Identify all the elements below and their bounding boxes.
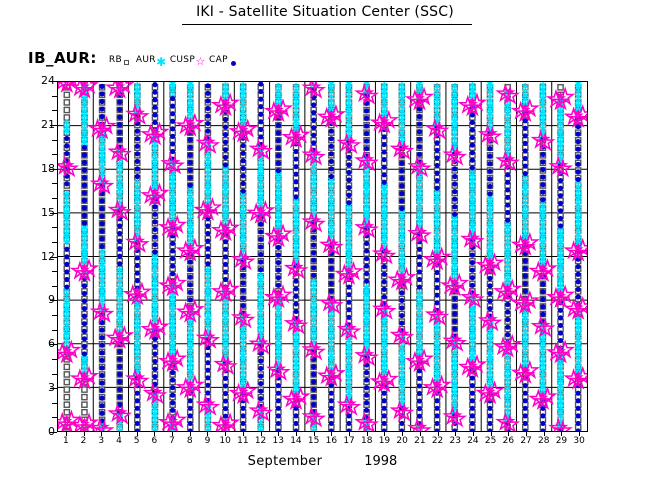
cap-dot-marker bbox=[152, 219, 157, 224]
x-tick-mark bbox=[243, 432, 244, 436]
cap-dot-marker bbox=[293, 164, 298, 169]
cap-dot-marker bbox=[417, 406, 422, 411]
x-tick-mark bbox=[473, 432, 474, 436]
cap-dot-marker bbox=[135, 255, 140, 260]
cap-dot-marker bbox=[364, 256, 369, 261]
cap-dot-marker bbox=[258, 97, 263, 102]
cap-dot-marker bbox=[346, 185, 351, 190]
cap-dot-marker bbox=[364, 241, 369, 246]
cap-dot-marker bbox=[470, 275, 475, 280]
cap-dot-marker bbox=[205, 375, 210, 380]
cap-dot-marker bbox=[364, 146, 369, 151]
cap-dot-marker bbox=[135, 174, 140, 179]
cap-dot-marker bbox=[576, 131, 581, 136]
cap-dot-marker bbox=[576, 264, 581, 269]
cap-dot-marker bbox=[258, 244, 263, 249]
cap-dot-marker bbox=[170, 126, 175, 131]
cap-dot-marker bbox=[82, 298, 87, 303]
cap-dot-marker bbox=[523, 258, 528, 263]
cap-dot-marker bbox=[329, 159, 334, 164]
cap-dot-marker bbox=[417, 114, 422, 119]
cap-dot-marker bbox=[188, 297, 193, 302]
x-tick-mark bbox=[101, 432, 102, 436]
cap-dot-marker bbox=[435, 277, 440, 282]
cap-dot-marker bbox=[188, 183, 193, 188]
cap-dot-marker bbox=[399, 305, 404, 310]
cap-dot-marker bbox=[487, 146, 492, 151]
cap-dot-marker bbox=[399, 421, 404, 426]
y-tick-mark bbox=[50, 81, 57, 82]
cap-dot-marker bbox=[223, 140, 228, 145]
cap-dot-marker bbox=[99, 91, 104, 96]
cap-dot-marker bbox=[540, 289, 545, 294]
cap-dot-marker bbox=[293, 156, 298, 161]
cap-dot-marker bbox=[382, 134, 387, 139]
cap-dot-marker bbox=[188, 175, 193, 180]
cap-dot-marker bbox=[523, 273, 528, 278]
cap-dot-marker bbox=[576, 177, 581, 182]
cap-dot-marker bbox=[417, 129, 422, 134]
cap-dot-marker bbox=[470, 391, 475, 396]
cap-dot-marker bbox=[452, 174, 457, 179]
cap-dot-marker bbox=[435, 300, 440, 305]
cap-dot-marker bbox=[258, 229, 263, 234]
cap-dot-marker bbox=[523, 383, 528, 388]
cap-dot-marker bbox=[435, 170, 440, 175]
cap-dot-marker bbox=[82, 175, 87, 180]
cap-dot-marker bbox=[417, 122, 422, 127]
cap-dot-marker bbox=[99, 206, 104, 211]
cap-dot-marker bbox=[364, 393, 369, 398]
cap-dot-marker bbox=[382, 142, 387, 147]
cap-dot-marker bbox=[223, 376, 228, 381]
x-tick-mark bbox=[491, 432, 492, 436]
cap-dot-marker bbox=[417, 247, 422, 252]
cap-dot-marker bbox=[576, 169, 581, 174]
cap-dot-marker bbox=[205, 353, 210, 358]
cap-dot-marker bbox=[311, 273, 316, 278]
cap-dot-marker bbox=[205, 383, 210, 388]
cap-dot-marker bbox=[188, 259, 193, 264]
cap-dot-marker bbox=[382, 157, 387, 162]
cap-dot-marker bbox=[487, 176, 492, 181]
cap-dot-marker bbox=[152, 204, 157, 209]
cap-dot-marker bbox=[435, 270, 440, 275]
cap-dot-marker bbox=[223, 383, 228, 388]
cap-dot-marker bbox=[82, 168, 87, 173]
cap-dot-marker bbox=[135, 129, 140, 134]
rb-square-marker bbox=[64, 372, 69, 377]
cap-dot-marker bbox=[99, 343, 104, 348]
cap-dot-marker bbox=[487, 406, 492, 411]
cap-dot-marker bbox=[558, 201, 563, 206]
x-tick-mark bbox=[261, 432, 262, 436]
cap-dot-marker bbox=[152, 112, 157, 117]
cap-dot-marker bbox=[117, 349, 122, 354]
cap-dot-marker bbox=[364, 370, 369, 375]
y-tick-mark bbox=[50, 213, 57, 214]
legend-label-cusp: CUSP bbox=[170, 55, 195, 65]
cap-dot-marker bbox=[258, 127, 263, 132]
cap-dot-marker bbox=[241, 406, 246, 411]
x-tick-mark bbox=[66, 432, 67, 436]
cap-dot-marker bbox=[223, 239, 228, 244]
cap-dot-marker bbox=[452, 204, 457, 209]
cap-dot-marker bbox=[152, 234, 157, 239]
cap-dot-marker bbox=[540, 182, 545, 187]
cap-dot-marker bbox=[346, 200, 351, 205]
cap-dot-marker bbox=[99, 106, 104, 111]
y-tick-mark bbox=[50, 300, 57, 301]
cap-dot-marker bbox=[311, 140, 316, 145]
x-tick-mark bbox=[190, 432, 191, 436]
cap-dot-marker bbox=[170, 96, 175, 101]
cap-dot-marker bbox=[382, 172, 387, 177]
cap-dot-marker bbox=[276, 130, 281, 135]
cap-dot-marker bbox=[399, 298, 404, 303]
cap-dot-marker bbox=[470, 260, 475, 265]
cap-dot-marker bbox=[293, 286, 298, 291]
cap-dot-marker bbox=[276, 398, 281, 403]
cap-dot-marker bbox=[505, 202, 510, 207]
cap-dot-marker bbox=[311, 387, 316, 392]
x-axis-label: September1998 bbox=[57, 454, 588, 469]
cap-dot-marker bbox=[82, 344, 87, 349]
cap-dot-marker bbox=[523, 421, 528, 426]
cap-dot-marker bbox=[540, 304, 545, 309]
cap-dot-marker bbox=[82, 198, 87, 203]
filled-circle-icon bbox=[228, 55, 239, 66]
cap-dot-marker bbox=[223, 162, 228, 167]
cap-dot-marker bbox=[540, 197, 545, 202]
cap-dot-marker bbox=[82, 283, 87, 288]
cap-dot-marker bbox=[329, 174, 334, 179]
cap-dot-marker bbox=[188, 145, 193, 150]
cap-dot-marker bbox=[364, 123, 369, 128]
cap-dot-marker bbox=[452, 197, 457, 202]
cap-dot-marker bbox=[523, 406, 528, 411]
cap-dot-marker bbox=[329, 406, 334, 411]
cap-dot-marker bbox=[223, 247, 228, 252]
cap-dot-marker bbox=[241, 158, 246, 163]
cap-dot-marker bbox=[329, 266, 334, 271]
cap-dot-marker bbox=[99, 236, 104, 241]
cap-dot-marker bbox=[311, 402, 316, 407]
cap-dot-marker bbox=[293, 421, 298, 426]
cap-dot-marker bbox=[329, 289, 334, 294]
cap-dot-marker bbox=[276, 406, 281, 411]
cap-dot-marker bbox=[117, 379, 122, 384]
cap-dot-marker bbox=[523, 163, 528, 168]
cap-dot-marker bbox=[452, 189, 457, 194]
x-tick-mark bbox=[278, 432, 279, 436]
cap-dot-marker bbox=[223, 124, 228, 129]
cap-dot-marker bbox=[64, 136, 69, 141]
cap-dot-marker bbox=[188, 406, 193, 411]
cap-dot-marker bbox=[364, 408, 369, 413]
cap-dot-marker bbox=[117, 372, 122, 377]
cap-dot-marker bbox=[276, 252, 281, 257]
cap-dot-marker bbox=[487, 184, 492, 189]
cap-dot-marker bbox=[470, 158, 475, 163]
cap-dot-marker bbox=[205, 106, 210, 111]
cap-dot-marker bbox=[364, 400, 369, 405]
cap-dot-marker bbox=[505, 172, 510, 177]
cap-dot-marker bbox=[117, 387, 122, 392]
cap-dot-marker bbox=[276, 383, 281, 388]
cap-dot-marker bbox=[311, 265, 316, 270]
cap-dot-marker bbox=[64, 284, 69, 289]
cap-dot-marker bbox=[452, 326, 457, 331]
cap-dot-marker bbox=[205, 261, 210, 266]
x-tick-mark bbox=[455, 432, 456, 436]
cap-dot-marker bbox=[505, 302, 510, 307]
cap-dot-marker bbox=[470, 165, 475, 170]
cap-dot-marker bbox=[152, 366, 157, 371]
cap-dot-marker bbox=[346, 155, 351, 160]
cap-dot-marker bbox=[576, 413, 581, 418]
cap-dot-marker bbox=[293, 309, 298, 314]
cap-dot-marker bbox=[170, 408, 175, 413]
cap-dot-marker bbox=[188, 168, 193, 173]
cap-dot-marker bbox=[576, 294, 581, 299]
cap-dot-marker bbox=[152, 250, 157, 255]
rb-square-marker bbox=[64, 379, 69, 384]
cap-dot-marker bbox=[117, 231, 122, 236]
cap-dot-marker bbox=[435, 421, 440, 426]
x-tick-mark bbox=[526, 432, 527, 436]
x-tick-mark bbox=[84, 432, 85, 436]
cap-dot-marker bbox=[382, 406, 387, 411]
x-tick-mark bbox=[119, 432, 120, 436]
cap-dot-marker bbox=[505, 210, 510, 215]
cap-dot-marker bbox=[82, 314, 87, 319]
rb-square-marker bbox=[64, 395, 69, 400]
cap-dot-marker bbox=[188, 413, 193, 418]
cap-dot-marker bbox=[135, 406, 140, 411]
hollow-square-icon bbox=[122, 55, 133, 66]
cap-dot-marker bbox=[258, 237, 263, 242]
x-tick-mark bbox=[207, 432, 208, 436]
cap-dot-marker bbox=[346, 421, 351, 426]
cap-dot-marker bbox=[170, 134, 175, 139]
cap-dot-marker bbox=[470, 413, 475, 418]
cap-dot-marker bbox=[258, 267, 263, 272]
cap-dot-marker bbox=[364, 378, 369, 383]
cap-dot-marker bbox=[382, 391, 387, 396]
cap-dot-marker bbox=[64, 262, 69, 267]
cap-dot-marker bbox=[64, 269, 69, 274]
cap-dot-marker bbox=[135, 263, 140, 268]
cap-dot-marker bbox=[276, 275, 281, 280]
cap-dot-marker bbox=[152, 351, 157, 356]
cap-dot-marker bbox=[558, 193, 563, 198]
cap-dot-marker bbox=[135, 398, 140, 403]
cap-dot-marker bbox=[152, 359, 157, 364]
cap-dot-marker bbox=[558, 208, 563, 213]
cap-dot-marker bbox=[417, 368, 422, 373]
cap-dot-marker bbox=[258, 112, 263, 117]
cap-dot-marker bbox=[135, 421, 140, 426]
cap-dot-marker bbox=[470, 252, 475, 257]
cap-dot-marker bbox=[241, 296, 246, 301]
y-tick-mark bbox=[50, 388, 57, 389]
cap-dot-marker bbox=[487, 161, 492, 166]
cap-dot-marker bbox=[152, 374, 157, 379]
cap-dot-marker bbox=[170, 111, 175, 116]
cap-dot-marker bbox=[346, 162, 351, 167]
cap-dot-marker bbox=[346, 300, 351, 305]
cap-dot-marker bbox=[311, 118, 316, 123]
cap-dot-marker bbox=[487, 169, 492, 174]
cap-dot-marker bbox=[346, 292, 351, 297]
cap-dot-marker bbox=[170, 271, 175, 276]
cap-dot-marker bbox=[205, 83, 210, 88]
cap-dot-marker bbox=[311, 102, 316, 107]
cap-dot-marker bbox=[258, 389, 263, 394]
cap-dot-marker bbox=[399, 321, 404, 326]
cap-dot-marker bbox=[223, 155, 228, 160]
cap-dot-marker bbox=[382, 279, 387, 284]
cap-dot-marker bbox=[135, 270, 140, 275]
cap-dot-marker bbox=[523, 141, 528, 146]
cap-dot-marker bbox=[576, 421, 581, 426]
cap-dot-marker bbox=[487, 298, 492, 303]
cap-dot-marker bbox=[82, 336, 87, 341]
cap-dot-marker bbox=[293, 179, 298, 184]
cap-dot-marker bbox=[470, 143, 475, 148]
asterisk-icon: ✱ bbox=[156, 55, 167, 66]
cap-dot-marker bbox=[364, 138, 369, 143]
cap-dot-marker bbox=[487, 291, 492, 296]
cap-dot-marker bbox=[576, 147, 581, 152]
cap-dot-marker bbox=[82, 213, 87, 218]
cap-dot-marker bbox=[329, 383, 334, 388]
cap-dot-marker bbox=[64, 254, 69, 259]
cap-dot-marker bbox=[99, 396, 104, 401]
cap-dot-marker bbox=[452, 311, 457, 316]
cap-dot-marker bbox=[311, 372, 316, 377]
cap-dot-marker bbox=[117, 239, 122, 244]
cap-dot-marker bbox=[523, 148, 528, 153]
legend: IB_AUR: RB AUR ✱ CUSP ☆ CAP bbox=[28, 48, 242, 66]
cap-dot-marker bbox=[241, 181, 246, 186]
cap-dot-marker bbox=[117, 122, 122, 127]
x-tick-mark bbox=[367, 432, 368, 436]
x-tick-label: 30 bbox=[569, 436, 589, 446]
page-title: IKI - Satellite Situation Center (SSC) bbox=[0, 4, 650, 20]
cap-dot-marker bbox=[258, 358, 263, 363]
cap-dot-marker bbox=[540, 282, 545, 287]
cap-dot-marker bbox=[435, 413, 440, 418]
cap-dot-marker bbox=[470, 120, 475, 125]
cap-dot-marker bbox=[135, 391, 140, 396]
cap-dot-marker bbox=[540, 297, 545, 302]
cap-dot-marker bbox=[417, 398, 422, 403]
cap-dot-marker bbox=[293, 279, 298, 284]
cap-dot-marker bbox=[435, 140, 440, 145]
cap-dot-marker bbox=[364, 385, 369, 390]
cap-dot-marker bbox=[241, 288, 246, 293]
cap-dot-marker bbox=[329, 398, 334, 403]
cap-dot-marker bbox=[505, 180, 510, 185]
rb-square-marker bbox=[82, 402, 87, 407]
cap-dot-marker bbox=[523, 391, 528, 396]
cap-dot-marker bbox=[399, 206, 404, 211]
cap-dot-marker bbox=[135, 166, 140, 171]
legend-item-rb: RB bbox=[109, 55, 133, 66]
cap-dot-marker bbox=[311, 394, 316, 399]
legend-item-cusp: CUSP ☆ bbox=[170, 55, 206, 66]
cap-dot-marker bbox=[523, 126, 528, 131]
cap-dot-marker bbox=[576, 139, 581, 144]
cap-dot-marker bbox=[276, 260, 281, 265]
x-tick-mark bbox=[349, 432, 350, 436]
x-tick-mark bbox=[137, 432, 138, 436]
cap-dot-marker bbox=[417, 262, 422, 267]
cap-dot-marker bbox=[258, 259, 263, 264]
cap-dot-marker bbox=[558, 223, 563, 228]
cap-dot-marker bbox=[470, 283, 475, 288]
cap-dot-marker bbox=[82, 205, 87, 210]
cap-dot-marker bbox=[117, 254, 122, 259]
cap-dot-marker bbox=[470, 406, 475, 411]
cap-dot-marker bbox=[487, 191, 492, 196]
cap-dot-marker bbox=[188, 160, 193, 165]
cap-dot-marker bbox=[205, 98, 210, 103]
cap-dot-marker bbox=[99, 365, 104, 370]
cap-dot-marker bbox=[505, 332, 510, 337]
cap-dot-marker bbox=[417, 284, 422, 289]
cap-dot-marker bbox=[417, 152, 422, 157]
cap-dot-marker bbox=[576, 162, 581, 167]
cap-dot-marker bbox=[241, 151, 246, 156]
cap-dot-marker bbox=[558, 323, 563, 328]
rb-square-marker bbox=[558, 85, 563, 90]
cap-dot-marker bbox=[346, 284, 351, 289]
cap-dot-marker bbox=[223, 147, 228, 152]
cap-dot-marker bbox=[188, 290, 193, 295]
x-tick-mark bbox=[402, 432, 403, 436]
cap-dot-marker bbox=[223, 262, 228, 267]
cap-dot-marker bbox=[205, 129, 210, 134]
cap-dot-marker bbox=[417, 106, 422, 111]
cap-dot-marker bbox=[487, 283, 492, 288]
cap-dot-marker bbox=[170, 141, 175, 146]
cap-dot-marker bbox=[558, 178, 563, 183]
cap-dot-marker bbox=[505, 309, 510, 314]
cap-dot-marker bbox=[382, 294, 387, 299]
cap-dot-marker bbox=[399, 176, 404, 181]
cap-dot-marker bbox=[346, 315, 351, 320]
cap-dot-marker bbox=[99, 99, 104, 104]
cap-dot-marker bbox=[452, 296, 457, 301]
cap-dot-marker bbox=[82, 145, 87, 150]
cap-dot-marker bbox=[576, 279, 581, 284]
cap-dot-marker bbox=[64, 143, 69, 148]
cap-dot-marker bbox=[223, 117, 228, 122]
cap-dot-marker bbox=[99, 244, 104, 249]
cap-dot-marker bbox=[223, 277, 228, 282]
cap-dot-marker bbox=[258, 381, 263, 386]
cap-dot-marker bbox=[170, 264, 175, 269]
cap-dot-marker bbox=[205, 368, 210, 373]
cap-dot-marker bbox=[505, 325, 510, 330]
cap-dot-marker bbox=[276, 268, 281, 273]
cap-dot-marker bbox=[346, 177, 351, 182]
cap-dot-marker bbox=[188, 137, 193, 142]
cap-dot-marker bbox=[152, 336, 157, 341]
